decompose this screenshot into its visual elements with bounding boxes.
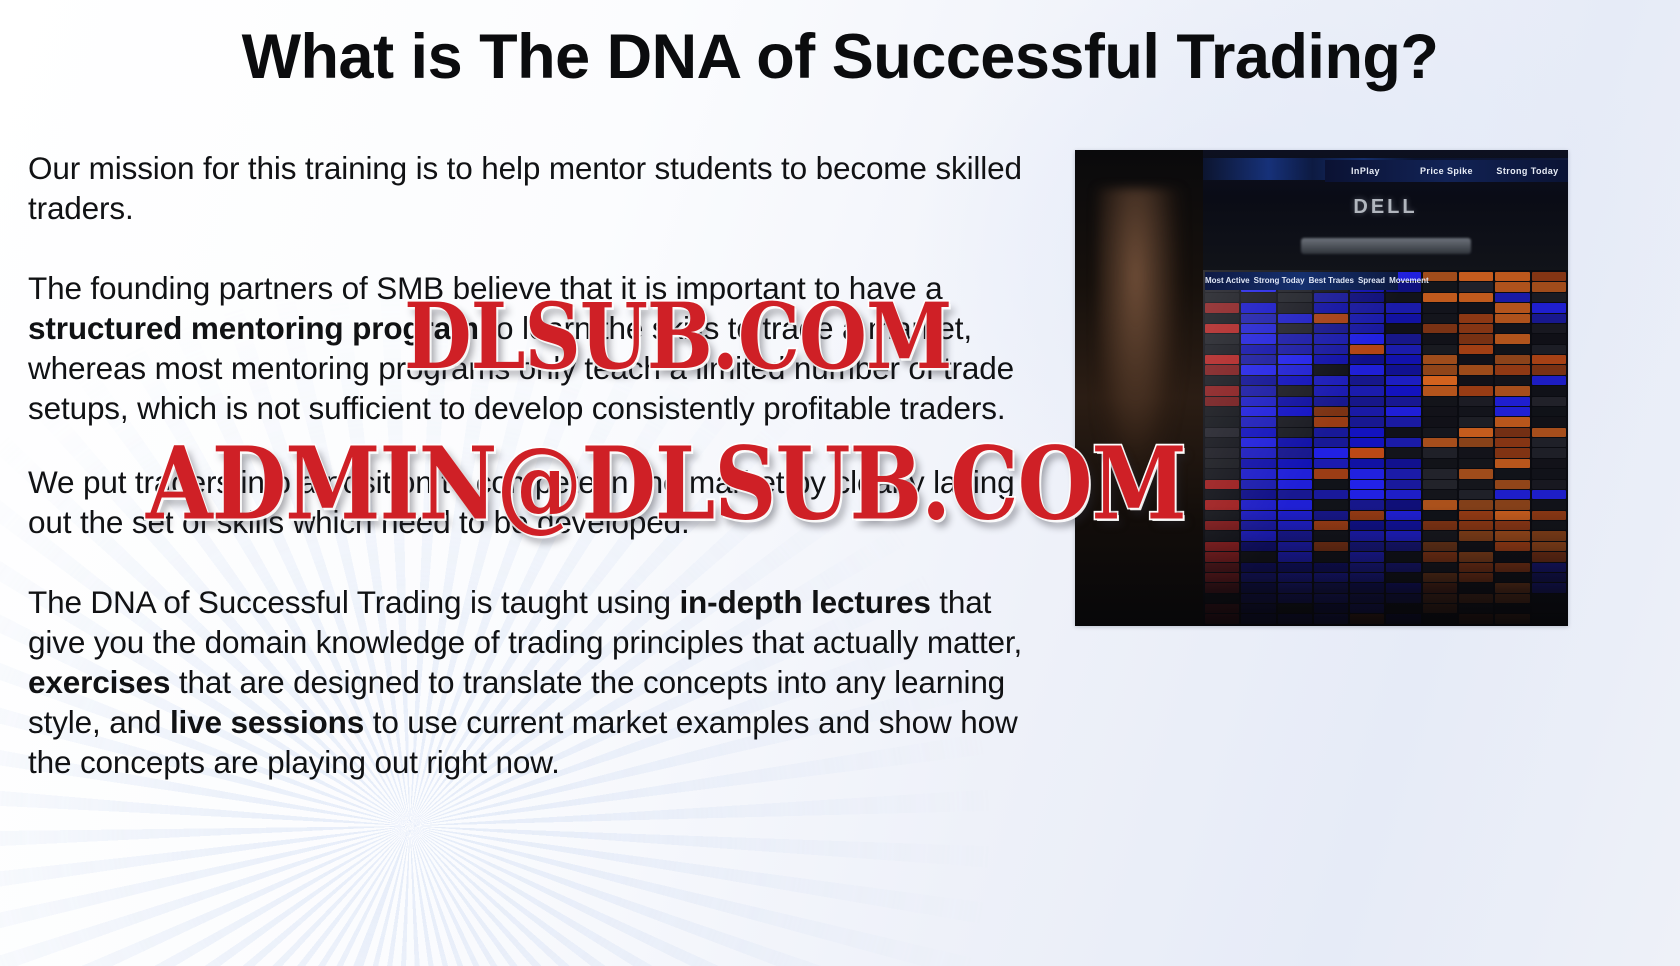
montage-cell <box>1205 521 1239 530</box>
slide-canvas: What is The DNA of Successful Trading? O… <box>0 0 1680 966</box>
montage-cell <box>1350 604 1384 613</box>
montage-cell <box>1278 417 1312 426</box>
montage-cell <box>1350 303 1384 312</box>
montage-cell <box>1350 469 1384 478</box>
montage-cell <box>1205 397 1239 406</box>
montage-cell <box>1495 428 1529 437</box>
montage-cell <box>1350 407 1384 416</box>
montage-cell <box>1241 583 1275 592</box>
montage-cell <box>1314 594 1348 603</box>
watchlist-header-row: InPlay Price Spike Strong Today <box>1325 160 1568 182</box>
montage-cell <box>1386 573 1420 582</box>
montage-column <box>1532 272 1566 624</box>
montage-cell <box>1423 386 1457 395</box>
montage-cell <box>1423 531 1457 540</box>
montage-cell <box>1423 324 1457 333</box>
montage-cell <box>1314 521 1348 530</box>
montage-cell <box>1423 448 1457 457</box>
page-title: What is The DNA of Successful Trading? <box>0 22 1680 93</box>
montage-cell <box>1314 324 1348 333</box>
paragraph-teaching-emphasis-exercises: exercises <box>28 664 170 700</box>
montage-cell <box>1350 293 1384 302</box>
montage-cell <box>1241 480 1275 489</box>
montage-cell <box>1386 397 1420 406</box>
montage-cell <box>1314 500 1348 509</box>
paragraph-mentoring-lead: The founding partners of SMB believe tha… <box>28 270 942 306</box>
montage-cell <box>1495 480 1529 489</box>
montage-cell <box>1350 563 1384 572</box>
montage-cell <box>1314 459 1348 468</box>
montage-cell <box>1205 417 1239 426</box>
montage-cell <box>1532 428 1566 437</box>
montage-cell <box>1495 521 1529 530</box>
montage-cell <box>1532 583 1566 592</box>
montage-cell <box>1532 314 1566 323</box>
montage-cell <box>1205 324 1239 333</box>
montage-cell <box>1205 531 1239 540</box>
montage-cell <box>1495 448 1529 457</box>
montage-column <box>1386 272 1420 624</box>
montage-cell <box>1459 386 1493 395</box>
montage-column <box>1423 272 1457 624</box>
paragraph-compete-text: We put traders into a position to compet… <box>28 464 1014 540</box>
montage-cell <box>1459 573 1493 582</box>
paragraph-mentoring-emphasis: structured mentoring program <box>28 310 479 346</box>
montage-cell <box>1278 428 1312 437</box>
montage-cell <box>1241 303 1275 312</box>
montage-cell <box>1423 521 1457 530</box>
montage-cell <box>1459 511 1493 520</box>
montage-cell <box>1532 469 1566 478</box>
montage-cell <box>1205 448 1239 457</box>
montage-cell <box>1459 376 1493 385</box>
montage-cell <box>1459 407 1493 416</box>
montage-cell <box>1423 469 1457 478</box>
montage-cell <box>1495 324 1529 333</box>
montage-cell <box>1386 417 1420 426</box>
montage-cell <box>1350 397 1384 406</box>
montage-cell <box>1350 552 1384 561</box>
montage-cell <box>1459 293 1493 302</box>
montage-cell <box>1495 438 1529 447</box>
montage-cell <box>1423 303 1457 312</box>
montage-cell <box>1241 490 1275 499</box>
montage-cell <box>1459 594 1493 603</box>
montage-cell <box>1423 563 1457 572</box>
montage-cell <box>1532 552 1566 561</box>
montage-cell <box>1350 521 1384 530</box>
montage-cell <box>1459 583 1493 592</box>
montage-cell <box>1532 531 1566 540</box>
montage-cell <box>1459 469 1493 478</box>
montage-cell <box>1241 324 1275 333</box>
montage-cell <box>1495 386 1529 395</box>
montage-cell <box>1532 345 1566 354</box>
montage-cell <box>1532 272 1566 281</box>
montage-cell <box>1314 428 1348 437</box>
montage-cell <box>1532 386 1566 395</box>
montage-cell <box>1459 314 1493 323</box>
montage-cell <box>1314 469 1348 478</box>
montage-cell <box>1314 386 1348 395</box>
montage-cell <box>1278 448 1312 457</box>
montage-cell <box>1278 500 1312 509</box>
montage-cell <box>1350 355 1384 364</box>
montage-cell <box>1205 303 1239 312</box>
montage-cell <box>1386 469 1420 478</box>
montage-cell <box>1459 459 1493 468</box>
montage-cell <box>1278 345 1312 354</box>
montage-cell <box>1314 480 1348 489</box>
montage-cell <box>1386 438 1420 447</box>
montage-cell <box>1532 573 1566 582</box>
paragraph-mentoring: The founding partners of SMB believe tha… <box>28 268 1040 428</box>
montage-cell <box>1386 428 1420 437</box>
montage-subheader-best-trades: Best Trades <box>1309 272 1354 290</box>
montage-cell <box>1532 417 1566 426</box>
montage-cell <box>1495 469 1529 478</box>
monitor-stand <box>1301 238 1471 254</box>
montage-cell <box>1314 334 1348 343</box>
montage-cell <box>1532 459 1566 468</box>
montage-cell <box>1350 314 1384 323</box>
montage-cell <box>1423 552 1457 561</box>
montage-cell <box>1350 334 1384 343</box>
montage-cell <box>1386 480 1420 489</box>
montage-cell <box>1532 407 1566 416</box>
montage-cell <box>1386 365 1420 374</box>
montage-cell <box>1495 397 1529 406</box>
montage-cell <box>1241 438 1275 447</box>
montage-cell <box>1314 614 1348 623</box>
montage-cell <box>1386 531 1420 540</box>
montage-cell <box>1241 386 1275 395</box>
montage-cell <box>1495 531 1529 540</box>
watchlist-header-price-spike: Price Spike <box>1406 166 1487 176</box>
montage-cell <box>1241 365 1275 374</box>
montage-cell <box>1532 376 1566 385</box>
montage-cell <box>1314 417 1348 426</box>
montage-cell <box>1532 480 1566 489</box>
montage-cell <box>1314 531 1348 540</box>
montage-cell <box>1495 365 1529 374</box>
paragraph-teaching-lead: The DNA of Successful Trading is taught … <box>28 584 679 620</box>
montage-cell <box>1423 500 1457 509</box>
montage-cell <box>1423 397 1457 406</box>
montage-cell <box>1350 345 1384 354</box>
montage-cell <box>1423 459 1457 468</box>
montage-cell <box>1423 511 1457 520</box>
montage-cell <box>1532 490 1566 499</box>
montage-cell <box>1532 282 1566 291</box>
paragraph-teaching: The DNA of Successful Trading is taught … <box>28 582 1040 782</box>
montage-cell <box>1205 438 1239 447</box>
montage-cell <box>1314 490 1348 499</box>
montage-cell <box>1350 594 1384 603</box>
montage-cell <box>1495 376 1529 385</box>
watchlist-header-inplay: InPlay <box>1325 166 1406 176</box>
montage-cell <box>1350 417 1384 426</box>
montage-cell <box>1532 438 1566 447</box>
montage-cell <box>1278 293 1312 302</box>
montage-cell <box>1278 511 1312 520</box>
montage-cell <box>1495 490 1529 499</box>
montage-cell <box>1241 573 1275 582</box>
montage-cell <box>1495 459 1529 468</box>
montage-cell <box>1241 407 1275 416</box>
montage-cell <box>1241 604 1275 613</box>
montage-cell <box>1532 303 1566 312</box>
montage-cell <box>1423 438 1457 447</box>
montage-cell <box>1459 542 1493 551</box>
montage-cell <box>1205 573 1239 582</box>
montage-column <box>1205 272 1239 624</box>
montage-cell <box>1532 542 1566 551</box>
montage-cell <box>1495 345 1529 354</box>
montage-cell <box>1314 303 1348 312</box>
montage-cell <box>1350 324 1384 333</box>
montage-cell <box>1386 355 1420 364</box>
montage-subheader-movement: Movement <box>1389 272 1429 290</box>
montage-cell <box>1495 511 1529 520</box>
montage-cell <box>1278 324 1312 333</box>
montage-cell <box>1314 293 1348 302</box>
montage-cell <box>1459 614 1493 623</box>
montage-cell <box>1532 563 1566 572</box>
montage-cell <box>1278 407 1312 416</box>
montage-cell <box>1350 480 1384 489</box>
montage-cell <box>1459 480 1493 489</box>
montage-cell <box>1495 272 1529 281</box>
montage-cell <box>1241 511 1275 520</box>
paragraph-mission-text: Our mission for this training is to help… <box>28 150 1022 226</box>
montage-column <box>1278 272 1312 624</box>
montage-cell <box>1314 511 1348 520</box>
montage-cell <box>1495 334 1529 343</box>
montage-cell <box>1495 583 1529 592</box>
montage-cell <box>1495 282 1529 291</box>
montage-cell <box>1532 293 1566 302</box>
montage-cell <box>1278 438 1312 447</box>
montage-cell <box>1241 542 1275 551</box>
montage-cell <box>1495 303 1529 312</box>
montage-cell <box>1205 511 1239 520</box>
montage-cell <box>1205 490 1239 499</box>
montage-cell <box>1495 552 1529 561</box>
montage-cell <box>1423 480 1457 489</box>
montage-cell <box>1386 334 1420 343</box>
montage-cell <box>1532 604 1566 613</box>
montage-cell <box>1459 324 1493 333</box>
level2-montage-grid <box>1203 270 1568 626</box>
paragraph-compete: We put traders into a position to compet… <box>28 462 1040 542</box>
montage-cell <box>1205 407 1239 416</box>
montage-cell <box>1423 573 1457 582</box>
montage-cell <box>1241 563 1275 572</box>
montage-cell <box>1532 324 1566 333</box>
montage-cell <box>1278 563 1312 572</box>
montage-subheader-strong-today: Strong Today <box>1254 272 1305 290</box>
montage-cell <box>1278 542 1312 551</box>
paragraph-teaching-emphasis-live-sessions: live sessions <box>170 704 364 740</box>
montage-subheader-most-active: Most Active <box>1205 272 1250 290</box>
montage-cell <box>1350 542 1384 551</box>
montage-cell <box>1278 614 1312 623</box>
montage-cell <box>1278 459 1312 468</box>
trading-desk-photo: DELL InPlay Price Spike Strong Today Mos… <box>1075 150 1568 626</box>
montage-cell <box>1386 594 1420 603</box>
montage-cell <box>1386 521 1420 530</box>
montage-cell <box>1423 490 1457 499</box>
montage-cell <box>1278 490 1312 499</box>
montage-cell <box>1423 583 1457 592</box>
montage-cell <box>1205 542 1239 551</box>
montage-cell <box>1205 583 1239 592</box>
montage-cell <box>1350 511 1384 520</box>
montage-cell <box>1459 521 1493 530</box>
montage-cell <box>1278 365 1312 374</box>
montage-cell <box>1205 386 1239 395</box>
montage-cell <box>1314 563 1348 572</box>
montage-cell <box>1205 552 1239 561</box>
montage-cell <box>1314 583 1348 592</box>
montage-cell <box>1205 563 1239 572</box>
montage-cell <box>1314 542 1348 551</box>
montage-cell <box>1241 428 1275 437</box>
montage-cell <box>1314 604 1348 613</box>
montage-cell <box>1350 428 1384 437</box>
montage-cell <box>1495 293 1529 302</box>
montage-cell <box>1532 365 1566 374</box>
montage-cell <box>1532 500 1566 509</box>
montage-cell <box>1278 397 1312 406</box>
montage-cell <box>1495 355 1529 364</box>
montage-cell <box>1495 614 1529 623</box>
paragraph-teaching-emphasis-lectures: in-depth lectures <box>679 584 930 620</box>
montage-cell <box>1241 459 1275 468</box>
montage-cell <box>1278 314 1312 323</box>
montage-cell <box>1205 604 1239 613</box>
montage-cell <box>1532 521 1566 530</box>
montage-cell <box>1241 334 1275 343</box>
montage-cell <box>1350 500 1384 509</box>
montage-cell <box>1459 355 1493 364</box>
montage-cell <box>1314 355 1348 364</box>
montage-cell <box>1532 334 1566 343</box>
montage-cell <box>1495 542 1529 551</box>
spacer <box>28 428 1040 462</box>
montage-cell <box>1386 459 1420 468</box>
montage-cell <box>1205 345 1239 354</box>
trader-silhouette <box>1075 150 1203 626</box>
montage-cell <box>1278 386 1312 395</box>
montage-cell <box>1495 594 1529 603</box>
montage-cell <box>1205 428 1239 437</box>
spacer <box>28 542 1040 582</box>
montage-cell <box>1350 438 1384 447</box>
montage-cell <box>1495 500 1529 509</box>
montage-cell <box>1386 293 1420 302</box>
montage-cell <box>1241 500 1275 509</box>
montage-cell <box>1314 345 1348 354</box>
montage-cell <box>1241 448 1275 457</box>
montage-cell <box>1423 355 1457 364</box>
montage-cell <box>1241 417 1275 426</box>
montage-cell <box>1350 365 1384 374</box>
montage-cell <box>1241 552 1275 561</box>
dell-logo: DELL <box>1353 196 1417 219</box>
paragraph-mission: Our mission for this training is to help… <box>28 148 1040 228</box>
montage-cell <box>1350 490 1384 499</box>
montage-cell <box>1205 293 1239 302</box>
montage-cell <box>1386 386 1420 395</box>
montage-cell <box>1314 448 1348 457</box>
montage-cell <box>1459 490 1493 499</box>
montage-cell <box>1278 469 1312 478</box>
montage-cell <box>1314 314 1348 323</box>
montage-cell <box>1278 573 1312 582</box>
montage-cell <box>1278 583 1312 592</box>
montage-cell <box>1423 542 1457 551</box>
montage-cell <box>1241 293 1275 302</box>
montage-cell <box>1278 334 1312 343</box>
montage-cell <box>1241 345 1275 354</box>
montage-cell <box>1459 303 1493 312</box>
montage-cell <box>1423 417 1457 426</box>
montage-cell <box>1423 376 1457 385</box>
montage-cell <box>1278 303 1312 312</box>
montage-cell <box>1386 563 1420 572</box>
montage-cell <box>1241 594 1275 603</box>
montage-cell <box>1205 355 1239 364</box>
montage-cell <box>1459 448 1493 457</box>
montage-cell <box>1314 397 1348 406</box>
montage-cell <box>1495 604 1529 613</box>
montage-subheader-spread: Spread <box>1358 272 1385 290</box>
montage-cell <box>1423 604 1457 613</box>
montage-cell <box>1423 365 1457 374</box>
montage-cell <box>1350 459 1384 468</box>
montage-cell <box>1386 583 1420 592</box>
montage-column <box>1350 272 1384 624</box>
montage-cell <box>1350 583 1384 592</box>
montage-cell <box>1386 552 1420 561</box>
montage-cell <box>1495 314 1529 323</box>
montage-cell <box>1386 303 1420 312</box>
montage-cell <box>1350 376 1384 385</box>
montage-cell <box>1241 531 1275 540</box>
montage-cell <box>1205 480 1239 489</box>
montage-cell <box>1386 614 1420 623</box>
montage-cell <box>1459 345 1493 354</box>
montage-cell <box>1423 314 1457 323</box>
montage-cell <box>1459 282 1493 291</box>
montage-cell <box>1532 511 1566 520</box>
montage-cell <box>1350 448 1384 457</box>
montage-cell <box>1459 397 1493 406</box>
montage-cell <box>1278 480 1312 489</box>
montage-column <box>1495 272 1529 624</box>
montage-cell <box>1314 365 1348 374</box>
montage-cell <box>1314 376 1348 385</box>
montage-cell <box>1386 324 1420 333</box>
montage-column <box>1241 272 1275 624</box>
montage-cell <box>1495 417 1529 426</box>
montage-cell <box>1423 407 1457 416</box>
montage-cell <box>1241 614 1275 623</box>
watchlist-header-strong-today: Strong Today <box>1487 166 1568 176</box>
montage-cell <box>1495 563 1529 572</box>
